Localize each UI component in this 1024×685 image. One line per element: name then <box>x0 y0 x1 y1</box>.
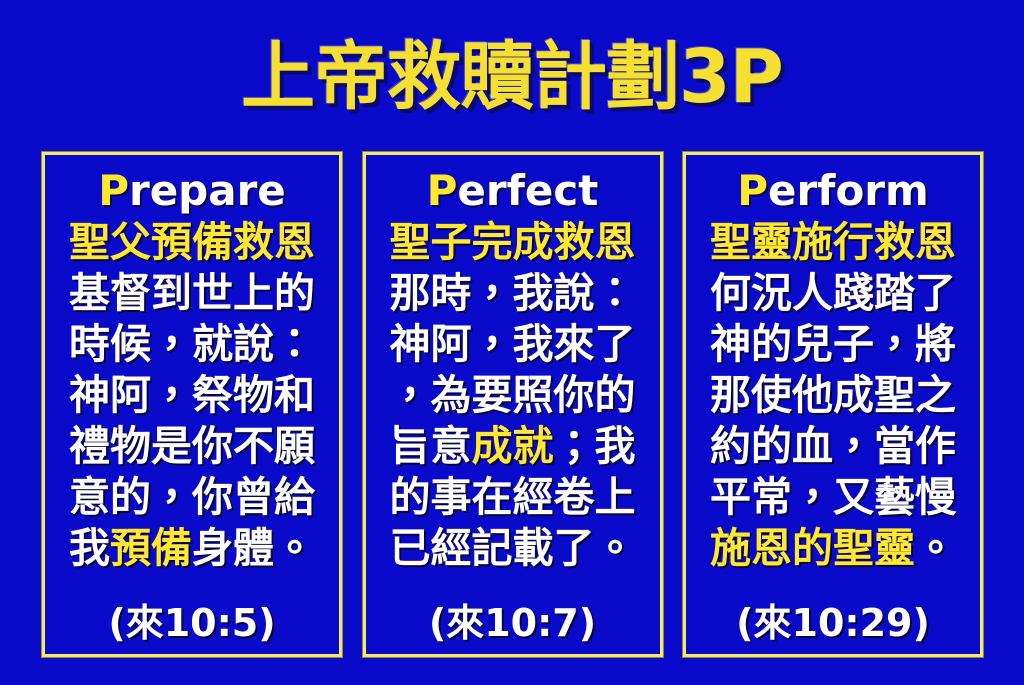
highlighted-text: 施恩的聖靈 <box>710 524 915 572</box>
scripture-line: 已經記載了。 <box>390 523 636 574</box>
scripture-line: 神阿，我來了 <box>390 319 636 370</box>
scripture-line: 旨意成就；我 <box>390 421 636 472</box>
slide-canvas: 上帝救贖計劃3P Prepare聖父預備救恩基督到世上的時候，就說：神阿，祭物和… <box>0 0 1024 685</box>
plain-text: 的事在經卷上 <box>390 473 636 521</box>
panel-heading-perfect: Perfect <box>427 169 599 213</box>
scripture-line: 那時，我說： <box>390 268 636 319</box>
heading-rest: erfect <box>457 166 598 215</box>
scripture-reference: (來10:7) <box>429 600 596 646</box>
scripture-line: 平常，又藝慢 <box>710 472 956 523</box>
plain-text: 意的，你曾給 <box>69 473 315 521</box>
panel-prepare[interactable]: Prepare聖父預備救恩基督到世上的時候，就說：神阿，祭物和禮物是你不願意的，… <box>42 152 342 657</box>
scripture-line: 時候，就說： <box>69 319 315 370</box>
scripture-line: 約的血，當作 <box>710 421 956 472</box>
scripture-line: ，為要照你的 <box>390 370 636 421</box>
plain-text: 約的血，當作 <box>710 422 956 470</box>
heading-rest: erform <box>768 166 929 215</box>
plain-text: 旨意 <box>390 422 472 470</box>
heading-rest: repare <box>129 166 286 215</box>
highlighted-text: 成就 <box>472 422 554 470</box>
scripture-line: 我預備身體。 <box>69 523 315 574</box>
scripture-line: 何況人踐踏了 <box>710 268 956 319</box>
panel-body: 聖子完成救恩那時，我說：神阿，我來了，為要照你的旨意成就；我的事在經卷上已經記載… <box>372 217 654 596</box>
scripture-line: 意的，你曾給 <box>69 472 315 523</box>
plain-text: ，為要照你的 <box>390 371 636 419</box>
panel-perform[interactable]: Perform聖靈施行救恩何況人踐踏了神的兒子，將那使他成聖之約的血，當作平常，… <box>683 152 983 657</box>
plain-text: 那時，我說： <box>390 269 636 317</box>
plain-text: 那使他成聖之 <box>710 371 956 419</box>
page-title: 上帝救贖計劃3P <box>241 40 783 114</box>
plain-text: 禮物是你不願 <box>69 422 315 470</box>
plain-text: 何況人踐踏了 <box>710 269 956 317</box>
scripture-line: 的事在經卷上 <box>390 472 636 523</box>
panel-row: Prepare聖父預備救恩基督到世上的時候，就說：神阿，祭物和禮物是你不願意的，… <box>42 152 983 657</box>
heading-initial: P <box>737 166 768 215</box>
panel-subtitle: 聖父預備救恩 <box>69 217 315 268</box>
scripture-line: 神的兒子，將 <box>710 319 956 370</box>
heading-initial: P <box>98 166 129 215</box>
title-bar: 上帝救贖計劃3P <box>0 22 1024 132</box>
panel-subtitle: 聖子完成救恩 <box>390 217 636 268</box>
plain-text: ；我 <box>554 422 636 470</box>
plain-text: 時候，就說： <box>69 320 315 368</box>
plain-text: 我 <box>69 524 110 572</box>
plain-text: 已經記載了。 <box>390 524 636 572</box>
panel-body: 聖靈施行救恩何況人踐踏了神的兒子，將那使他成聖之約的血，當作平常，又藝慢施恩的聖… <box>692 217 974 596</box>
panel-heading-prepare: Prepare <box>98 169 286 213</box>
panel-body: 聖父預備救恩基督到世上的時候，就說：神阿，祭物和禮物是你不願意的，你曾給我預備身… <box>51 217 333 596</box>
panel-perfect[interactable]: Perfect聖子完成救恩那時，我說：神阿，我來了，為要照你的旨意成就；我的事在… <box>363 152 663 657</box>
plain-text: 基督到世上的 <box>69 269 315 317</box>
plain-text: 。 <box>915 524 956 572</box>
plain-text: 神阿，我來了 <box>390 320 636 368</box>
panel-subtitle: 聖靈施行救恩 <box>710 217 956 268</box>
heading-initial: P <box>427 166 458 215</box>
plain-text: 神的兒子，將 <box>710 320 956 368</box>
panel-heading-perform: Perform <box>737 169 929 213</box>
scripture-line: 基督到世上的 <box>69 268 315 319</box>
scripture-line: 神阿，祭物和 <box>69 370 315 421</box>
highlighted-text: 預備 <box>110 524 192 572</box>
plain-text: 神阿，祭物和 <box>69 371 315 419</box>
scripture-line: 禮物是你不願 <box>69 421 315 472</box>
scripture-line: 那使他成聖之 <box>710 370 956 421</box>
scripture-reference: (來10:5) <box>108 600 275 646</box>
plain-text: 身體。 <box>192 524 315 572</box>
plain-text: 平常，又藝慢 <box>710 473 956 521</box>
scripture-reference: (來10:29) <box>736 600 930 646</box>
scripture-line: 施恩的聖靈。 <box>710 523 956 574</box>
